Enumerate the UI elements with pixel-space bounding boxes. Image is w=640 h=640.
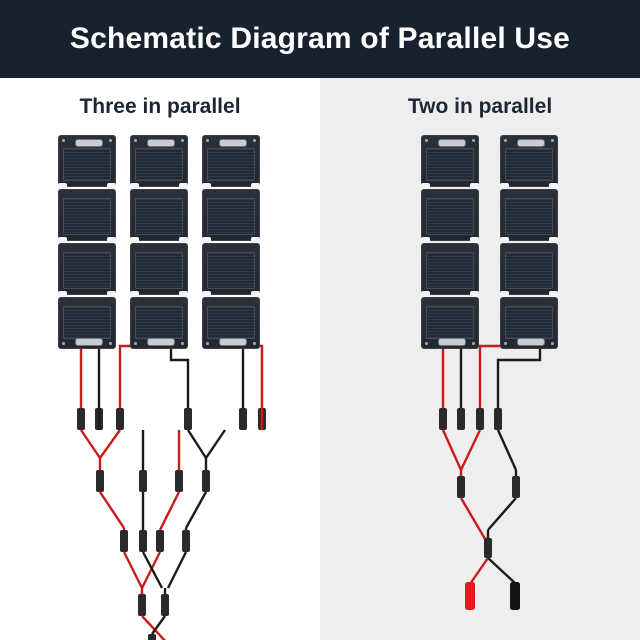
connector-row-mid <box>96 470 210 492</box>
carry-handle-icon <box>219 338 247 346</box>
pane-three-in-parallel: Three in parallel <box>0 78 320 640</box>
wiring-two-in-parallel <box>320 78 640 640</box>
connector-merge-node <box>484 538 492 558</box>
pv-cells <box>207 252 255 289</box>
pv-cells <box>135 306 183 339</box>
carry-handle-icon <box>147 139 175 147</box>
connector-row-final <box>138 594 169 616</box>
carry-handle-icon <box>517 139 545 147</box>
panel-segment <box>202 297 260 349</box>
panel-segment <box>421 135 479 187</box>
connector-merge-node <box>148 634 156 640</box>
output-terminal-positive <box>465 582 475 610</box>
panel-segment <box>58 135 116 187</box>
pv-cells <box>207 306 255 339</box>
solar-panel <box>500 135 558 351</box>
connector-row-mid <box>457 476 520 498</box>
header-bar: Schematic Diagram of Parallel Use <box>0 0 640 78</box>
panel-segment <box>202 135 260 187</box>
carry-handle-icon <box>438 338 466 346</box>
carry-handle-icon <box>219 139 247 147</box>
panel-segment <box>500 189 558 241</box>
solar-panel <box>421 135 479 351</box>
pv-cells <box>63 198 111 235</box>
page-title: Schematic Diagram of Parallel Use <box>70 22 570 56</box>
panel-segment <box>130 135 188 187</box>
carry-handle-icon <box>147 338 175 346</box>
output-terminal-negative <box>510 582 520 610</box>
diagram-root: Schematic Diagram of Parallel Use Three … <box>0 0 640 640</box>
pv-cells <box>426 306 474 339</box>
pv-cells <box>135 148 183 181</box>
panel-segment <box>130 297 188 349</box>
connector-row-upper <box>439 408 502 430</box>
carry-handle-icon <box>75 139 103 147</box>
panel-segment <box>58 297 116 349</box>
panel-segment <box>421 189 479 241</box>
panel-segment <box>421 297 479 349</box>
pv-cells <box>426 198 474 235</box>
pv-cells <box>426 252 474 289</box>
pv-cells <box>207 148 255 181</box>
pv-cells <box>505 148 553 181</box>
carry-handle-icon <box>75 338 103 346</box>
panel-segment <box>58 189 116 241</box>
solar-panel <box>58 135 116 351</box>
pv-cells <box>207 198 255 235</box>
panel-segment <box>421 243 479 295</box>
panel-segment <box>500 297 558 349</box>
solar-panel <box>202 135 260 351</box>
pv-cells <box>135 252 183 289</box>
pv-cells <box>505 306 553 339</box>
panel-segment <box>130 189 188 241</box>
connector-row-upper <box>77 408 266 430</box>
solar-panel <box>130 135 188 351</box>
connector-row-lower <box>120 530 190 552</box>
panel-segment <box>500 135 558 187</box>
pv-cells <box>63 148 111 181</box>
panel-segment <box>202 189 260 241</box>
carry-handle-icon <box>438 139 466 147</box>
pv-cells <box>426 148 474 181</box>
diagram-body: Three in parallel <box>0 78 640 640</box>
pv-cells <box>505 252 553 289</box>
pv-cells <box>135 198 183 235</box>
panel-segment <box>130 243 188 295</box>
pv-cells <box>63 252 111 289</box>
pv-cells <box>63 306 111 339</box>
pv-cells <box>505 198 553 235</box>
panel-segment <box>58 243 116 295</box>
carry-handle-icon <box>517 338 545 346</box>
pane-two-in-parallel: Two in parallel <box>320 78 640 640</box>
panel-segment <box>202 243 260 295</box>
panel-segment <box>500 243 558 295</box>
